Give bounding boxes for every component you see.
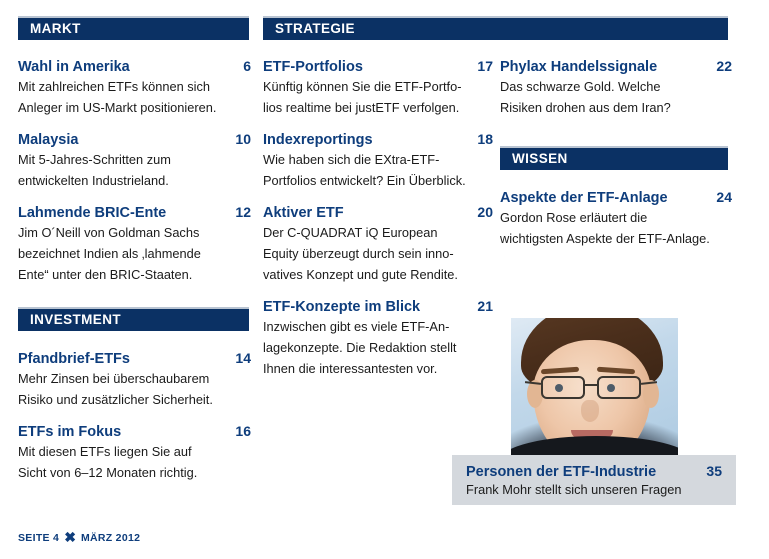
footer-page-label: SEITE 4 — [18, 532, 59, 544]
section-header-wissen: WISSEN — [500, 146, 728, 170]
toc-entry-page-number: 24 — [716, 189, 732, 207]
toc-entry-description: Jim O´Neill von Goldman Sachs bezeichnet… — [18, 223, 251, 285]
toc-entry-header: Malaysia 10 — [18, 131, 251, 149]
photo-lens-left — [541, 376, 585, 399]
toc-entry-description-line: Mehr Zinsen bei überschaubarem — [18, 369, 251, 390]
toc-entry-title: ETFs im Fokus — [18, 423, 121, 441]
toc-entry-etfs-im-fokus[interactable]: ETFs im Fokus 16 Mit diesen ETFs liegen … — [18, 423, 251, 484]
toc-entry-aspekte-der-etf-anlage[interactable]: Aspekte der ETF-Anlage 24 Gordon Rose er… — [500, 189, 732, 250]
toc-entry-header: Phylax Handelssignale 22 — [500, 58, 732, 76]
toc-entry-description-line: wichtigsten Aspekte der ETF-Anlage. — [500, 229, 732, 250]
toc-entry-description-line: Ihnen die interessantesten vor. — [263, 359, 493, 380]
toc-entry-description-line: Ente“ unter den BRIC-Staaten. — [18, 265, 251, 286]
toc-entry-description-line: Gordon Rose erläutert die — [500, 208, 732, 229]
toc-entry-header: ETF-Portfolios 17 — [263, 58, 493, 76]
toc-entry-lahmende-bric-ente[interactable]: Lahmende BRIC-Ente 12 Jim O´Neill von Go… — [18, 204, 251, 285]
page-footer: SEITE 4 ✖ MÄRZ 2012 — [18, 531, 140, 545]
toc-entry-description-line: vatives Konzept und gute Rendite. — [263, 265, 493, 286]
toc-entry-title: ETF-Konzepte im Blick — [263, 298, 420, 316]
toc-entry-title: Lahmende BRIC-Ente — [18, 204, 166, 222]
toc-entry-description: Mit zahlreichen ETFs können sich Anleger… — [18, 77, 251, 118]
toc-entry-header: Pfandbrief-ETFs 14 — [18, 350, 251, 368]
toc-entry-description-line: Risiken drohen aus dem Iran? — [500, 98, 732, 119]
toc-entry-indexreportings[interactable]: Indexreportings 18 Wie haben sich die EX… — [263, 131, 493, 192]
toc-entry-description-line: lagekonzepte. Die Redaktion stellt — [263, 338, 493, 359]
feature-caption-box[interactable]: Personen der ETF-Industrie 35 Frank Mohr… — [452, 455, 736, 505]
toc-entry-description-line: Das schwarze Gold. Welche — [500, 77, 732, 98]
toc-entry-phylax-handelssignale[interactable]: Phylax Handelssignale 22 Das schwarze Go… — [500, 58, 732, 119]
toc-entry-header: Aktiver ETF 20 — [263, 204, 493, 222]
toc-entry-description-line: Risiko und zusätzlicher Sicherheit. — [18, 390, 251, 411]
toc-entry-pfandbrief-etfs[interactable]: Pfandbrief-ETFs 14 Mehr Zinsen bei übers… — [18, 350, 251, 411]
section-header-strategie-label: STRATEGIE — [263, 22, 355, 36]
toc-entry-description: Wie haben sich die EXtra-ETF- Portfolios… — [263, 150, 493, 191]
toc-entry-description-line: Wie haben sich die EXtra-ETF- — [263, 150, 493, 171]
toc-entry-description-line: Anleger im US-Markt positionieren. — [18, 98, 251, 119]
photo-glasses-temple-right — [641, 381, 657, 385]
toc-entry-description-line: Sicht von 6–12 Monaten richtig. — [18, 463, 251, 484]
toc-entry-malaysia[interactable]: Malaysia 10 Mit 5-Jahres-Schritten zum e… — [18, 131, 251, 192]
toc-entry-description: Künftig können Sie die ETF-Portfo- lios … — [263, 77, 493, 118]
toc-entry-page-number: 16 — [235, 423, 251, 441]
toc-entry-page-number: 18 — [477, 131, 493, 149]
toc-entry-description: Der C-QUADRAT iQ European Equity überzeu… — [263, 223, 493, 285]
toc-entry-title: Aspekte der ETF-Anlage — [500, 189, 668, 207]
toc-entry-description: Das schwarze Gold. Welche Risiken drohen… — [500, 77, 732, 118]
toc-entry-description: Mehr Zinsen bei überschaubarem Risiko un… — [18, 369, 251, 410]
section-header-markt: MARKT — [18, 16, 249, 40]
toc-entry-header: Indexreportings 18 — [263, 131, 493, 149]
toc-entry-page-number: 20 — [477, 204, 493, 222]
toc-entry-description: Mit 5-Jahres-Schritten zum entwickelten … — [18, 150, 251, 191]
cross-icon: ✖ — [64, 530, 76, 544]
feature-portrait-photo — [511, 318, 678, 455]
toc-entry-description: Inzwischen gibt es viele ETF-An- lagekon… — [263, 317, 493, 379]
toc-entry-page-number: 6 — [243, 58, 251, 76]
toc-entry-title: Malaysia — [18, 131, 78, 149]
toc-entry-etf-konzepte-im-blick[interactable]: ETF-Konzepte im Blick 21 Inzwischen gibt… — [263, 298, 493, 379]
toc-entry-title: Pfandbrief-ETFs — [18, 350, 130, 368]
toc-entry-aktiver-etf[interactable]: Aktiver ETF 20 Der C-QUADRAT iQ European… — [263, 204, 493, 285]
feature-caption-description: Frank Mohr stellt sich unseren Fragen — [452, 480, 736, 497]
toc-entry-header: ETFs im Fokus 16 — [18, 423, 251, 441]
toc-entry-title: Aktiver ETF — [263, 204, 344, 222]
toc-entry-description-line: lios realtime bei justETF verfolgen. — [263, 98, 493, 119]
toc-entry-header: Lahmende BRIC-Ente 12 — [18, 204, 251, 222]
toc-entry-description-line: entwickelten Industrieland. — [18, 171, 251, 192]
toc-entry-page-number: 17 — [477, 58, 493, 76]
section-header-investment-label: INVESTMENT — [18, 313, 121, 327]
toc-entry-description-line: Mit zahlreichen ETFs können sich — [18, 77, 251, 98]
feature-caption-header: Personen der ETF-Industrie 35 — [452, 455, 736, 480]
toc-entry-page-number: 12 — [235, 204, 251, 222]
toc-entry-page-number: 21 — [477, 298, 493, 316]
toc-entry-description-line: Mit 5-Jahres-Schritten zum — [18, 150, 251, 171]
toc-entry-description-line: Künftig können Sie die ETF-Portfo- — [263, 77, 493, 98]
photo-glasses-bridge — [585, 384, 597, 386]
toc-entry-description-line: bezeichnet Indien als ‚lahmende — [18, 244, 251, 265]
toc-entry-description-line: Equity überzeugt durch sein inno- — [263, 244, 493, 265]
photo-eyeglasses — [537, 376, 657, 400]
toc-entry-description-line: Der C-QUADRAT iQ European — [263, 223, 493, 244]
toc-entry-header: Wahl in Amerika 6 — [18, 58, 251, 76]
section-header-strategie: STRATEGIE — [263, 16, 728, 40]
toc-entry-page-number: 14 — [235, 350, 251, 368]
toc-entry-etf-portfolios[interactable]: ETF-Portfolios 17 Künftig können Sie die… — [263, 58, 493, 119]
toc-entry-description-line: Jim O´Neill von Goldman Sachs — [18, 223, 251, 244]
toc-entry-title: Wahl in Amerika — [18, 58, 130, 76]
toc-entry-description-line: Inzwischen gibt es viele ETF-An- — [263, 317, 493, 338]
feature-caption-title: Personen der ETF-Industrie — [466, 464, 656, 480]
section-header-investment: INVESTMENT — [18, 307, 249, 331]
toc-entry-title: Indexreportings — [263, 131, 373, 149]
footer-issue-label: MÄRZ 2012 — [81, 532, 140, 544]
toc-page: MARKT STRATEGIE INVESTMENT WISSEN Wahl i… — [0, 0, 769, 559]
toc-entry-description: Gordon Rose erläutert die wichtigsten As… — [500, 208, 732, 249]
toc-entry-page-number: 10 — [235, 131, 251, 149]
toc-entry-description-line: Mit diesen ETFs liegen Sie auf — [18, 442, 251, 463]
toc-entry-wahl-in-amerika[interactable]: Wahl in Amerika 6 Mit zahlreichen ETFs k… — [18, 58, 251, 119]
photo-lens-right — [597, 376, 641, 399]
toc-entry-header: Aspekte der ETF-Anlage 24 — [500, 189, 732, 207]
toc-entry-description-line: Portfolios entwickelt? Ein Überblick. — [263, 171, 493, 192]
toc-entry-title: ETF-Portfolios — [263, 58, 363, 76]
feature-caption-page-number: 35 — [706, 463, 722, 479]
photo-nose — [581, 400, 599, 422]
section-header-wissen-label: WISSEN — [500, 152, 568, 166]
toc-entry-page-number: 22 — [716, 58, 732, 76]
section-header-markt-label: MARKT — [18, 22, 81, 36]
toc-entry-description: Mit diesen ETFs liegen Sie auf Sicht von… — [18, 442, 251, 483]
toc-entry-header: ETF-Konzepte im Blick 21 — [263, 298, 493, 316]
toc-entry-title: Phylax Handelssignale — [500, 58, 657, 76]
